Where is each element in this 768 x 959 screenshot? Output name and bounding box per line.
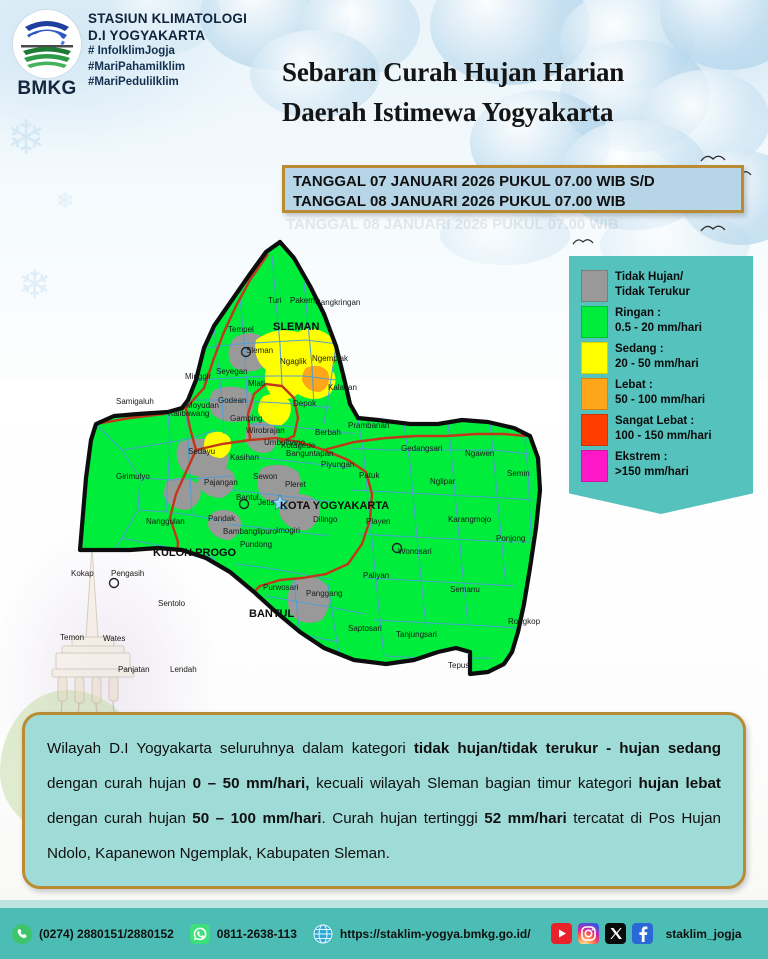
district-label: Godean	[218, 396, 246, 405]
district-label: Rongkop	[508, 617, 541, 626]
title-line-1: Sebaran Curah Hujan Harian	[282, 52, 752, 92]
legend-lebat-text: Lebat :50 - 100 mm/hari	[615, 378, 705, 408]
regency-label: KOTA YOGYAKARTA	[280, 500, 389, 512]
district-label: Kasihan	[230, 453, 259, 462]
summary-emphasis: 50 – 100 mm/hari	[192, 810, 321, 827]
title-line-2: Daerah Istimewa Yogyakarta	[282, 92, 752, 132]
district-label: Sentolo	[158, 599, 186, 608]
summary-segment: . Curah hujan tertinggi	[322, 810, 485, 827]
legend-ringan: Ringan :0.5 - 20 mm/hari	[581, 306, 743, 338]
summary-emphasis: 52 mm/hari	[484, 810, 566, 827]
district-label: Wonosari	[398, 547, 432, 556]
district-label: Tanjungsari	[396, 630, 437, 639]
page-title: Sebaran Curah Hujan Harian Daerah Istime…	[282, 52, 752, 132]
legend-sedang: Sedang :20 - 50 mm/hari	[581, 342, 743, 374]
district-label: Cangkringan	[315, 298, 360, 307]
legend-sedang-line-1: Sedang :	[615, 342, 699, 357]
regency-label: SLEMAN	[273, 321, 320, 333]
rainfall-map[interactable]: KULON PROGOSLEMANKOTA YOGYAKARTABANTULGU…	[18, 228, 578, 683]
website-contact[interactable]: https://staklim-yogya.bmkg.go.id/	[313, 924, 531, 944]
summary-emphasis: tidak hujan/tidak terukur - hujan sedang	[414, 740, 721, 757]
district-label: Kalasan	[328, 383, 357, 392]
district-label: Kalibawang	[168, 409, 209, 418]
legend-sedang-text: Sedang :20 - 50 mm/hari	[615, 342, 699, 372]
date-line-1: TANGGAL 07 JANUARI 2026 PUKUL 07.00 WIB …	[293, 172, 733, 192]
bmkg-logo-icon	[13, 10, 81, 78]
regency-label: BANTUL	[249, 608, 294, 620]
rainfall-legend: Tidak Hujan/Tidak TerukurRingan :0.5 - 2…	[569, 256, 753, 514]
whatsapp-contact: 0811-2638-113	[190, 924, 297, 944]
summary-segment: Wilayah D.I Yogyakarta seluruhnya dalam …	[47, 740, 414, 757]
org-line-1: STASIUN KLIMATOLOGI	[88, 10, 247, 27]
legend-ringan-text: Ringan :0.5 - 20 mm/hari	[615, 306, 702, 336]
district-label: Jetis	[258, 498, 274, 507]
facebook-icon[interactable]	[632, 923, 653, 944]
whatsapp-icon	[190, 924, 210, 944]
globe-icon	[313, 924, 333, 944]
district-label: Pakem	[290, 296, 315, 305]
footer-contact-bar: (0274) 2880151/2880152 0811-2638-113 htt…	[0, 908, 768, 959]
district-label: Pengasih	[111, 569, 144, 578]
district-label: Pleret	[285, 480, 307, 489]
district-label: Ngawen	[465, 449, 494, 458]
district-label: Panjatan	[118, 665, 150, 674]
legend-lebat-line-2: 50 - 100 mm/hari	[615, 393, 705, 408]
summary-text: Wilayah D.I Yogyakarta seluruhnya dalam …	[47, 731, 721, 871]
legend-sedang-swatch	[581, 342, 608, 374]
instagram-icon[interactable]	[578, 923, 599, 944]
social-handle: staklim_jogja	[666, 927, 742, 941]
district-label: Kokap	[71, 569, 94, 578]
whatsapp-number: 0811-2638-113	[217, 927, 297, 941]
website-url[interactable]: https://staklim-yogya.bmkg.go.id/	[340, 927, 531, 941]
district-label: Sewon	[253, 472, 277, 481]
x-twitter-icon[interactable]	[605, 923, 626, 944]
district-label: Gedangsari	[401, 444, 443, 453]
legend-sangat-lebat-line-1: Sangat Lebat :	[615, 414, 712, 429]
district-label: Pundong	[240, 540, 272, 549]
hashtag-2: #MariPahamiIklim	[88, 60, 247, 76]
bmkg-logo: BMKG	[8, 8, 86, 108]
district-label: Turi	[268, 296, 282, 305]
infographic-page: ❄ ❄ ❄	[0, 0, 768, 959]
district-label: Patuk	[359, 471, 380, 480]
bird-icon	[700, 152, 726, 164]
legend-sangat-lebat: Sangat Lebat :100 - 150 mm/hari	[581, 414, 743, 446]
district-label: Depok	[293, 399, 317, 408]
district-label: Nanggulan	[146, 517, 185, 526]
district-label: Berbah	[315, 428, 341, 437]
legend-sedang-line-2: 20 - 50 mm/hari	[615, 357, 699, 372]
district-label: Saptosari	[348, 624, 382, 633]
legend-tidak-hujan-line-1: Tidak Hujan/	[615, 270, 690, 285]
legend-ekstrem-text: Ekstrem :>150 mm/hari	[615, 450, 689, 480]
district-label: Samigaluh	[116, 397, 154, 406]
district-label: Wates	[103, 634, 125, 643]
legend-lebat: Lebat :50 - 100 mm/hari	[581, 378, 743, 410]
district-label: Imogiri	[276, 526, 300, 535]
snowflake-icon: ❄	[56, 188, 74, 214]
district-label: Prambanan	[348, 421, 389, 430]
district-label: Semin	[507, 469, 530, 478]
district-label: Seyegan	[216, 367, 248, 376]
legend-ringan-line-2: 0.5 - 20 mm/hari	[615, 321, 702, 336]
district-label: Bambanglipuro	[223, 527, 277, 536]
phone-contact: (0274) 2880151/2880152	[12, 924, 174, 944]
district-label: Moyudan	[186, 401, 219, 410]
legend-ringan-line-1: Ringan :	[615, 306, 702, 321]
hashtag-1: # InfoIklimJogja	[88, 44, 247, 60]
legend-ekstrem-line-2: >150 mm/hari	[615, 465, 689, 480]
district-label: Pandak	[208, 514, 236, 523]
district-label: Playen	[366, 517, 390, 526]
summary-segment: dengan curah hujan	[47, 775, 193, 792]
district-label: Ngemplak	[312, 354, 349, 363]
legend-ekstrem-line-1: Ekstrem :	[615, 450, 689, 465]
legend-tidak-hujan-line-2: Tidak Terukur	[615, 285, 690, 300]
district-label: Dilingo	[313, 515, 338, 524]
district-label: Ngaglik	[280, 357, 308, 366]
district-label: Tepus	[448, 661, 469, 670]
date-banner: TANGGAL 07 JANUARI 2026 PUKUL 07.00 WIB …	[282, 165, 744, 213]
district-label: Banguntapan	[286, 449, 334, 458]
district-label: Paliyan	[363, 571, 389, 580]
legend-lebat-swatch	[581, 378, 608, 410]
hashtag-3: #MariPeduliIklim	[88, 75, 247, 91]
district-label: Lendah	[170, 665, 197, 674]
district-label: Pajangan	[204, 478, 238, 487]
phone-number: (0274) 2880151/2880152	[39, 927, 174, 941]
legend-tidak-hujan-swatch	[581, 270, 608, 302]
social-media-icons[interactable]: staklim_jogja	[551, 923, 742, 944]
legend-ekstrem: Ekstrem :>150 mm/hari	[581, 450, 743, 482]
date-line-2: TANGGAL 08 JANUARI 2026 PUKUL 07.00 WIB	[293, 192, 733, 212]
map-svg[interactable]: KULON PROGOSLEMANKOTA YOGYAKARTABANTULGU…	[18, 228, 578, 683]
legend-sangat-lebat-line-2: 100 - 150 mm/hari	[615, 429, 712, 444]
district-label: Semanu	[450, 585, 480, 594]
bmkg-logo-text: BMKG	[8, 78, 86, 100]
district-label: Gamping	[230, 414, 262, 423]
district-label: Panggang	[306, 589, 342, 598]
legend-tidak-hujan-text: Tidak Hujan/Tidak Terukur	[615, 270, 690, 300]
district-label: Girimulyo	[116, 472, 150, 481]
district-label: Temon	[60, 633, 84, 642]
phone-icon	[12, 924, 32, 944]
legend-ekstrem-swatch	[581, 450, 608, 482]
district-label: Sedayu	[188, 447, 215, 456]
district-label: Wirobrajan	[246, 426, 285, 435]
legend-sangat-lebat-swatch	[581, 414, 608, 446]
org-line-2: D.I YOGYAKARTA	[88, 27, 247, 44]
district-label: Bantul	[236, 493, 259, 502]
summary-segment: kecuali wilayah Sleman bagian timur kate…	[309, 775, 638, 792]
district-label: Minggir	[185, 372, 212, 381]
district-label: Purwosari	[263, 583, 299, 592]
district-label: Nglipar	[430, 477, 456, 486]
youtube-icon[interactable]	[551, 923, 572, 944]
summary-emphasis: 0 – 50 mm/hari,	[193, 775, 310, 792]
district-label: Ponjong	[496, 534, 525, 543]
organization-block: STASIUN KLIMATOLOGI D.I YOGYAKARTA # Inf…	[88, 10, 247, 91]
regency-label: KULON PROGO	[153, 547, 237, 559]
summary-segment: dengan curah hujan	[47, 810, 192, 827]
summary-box: Wilayah D.I Yogyakarta seluruhnya dalam …	[22, 712, 746, 889]
district-label: Piyungan	[321, 460, 354, 469]
legend-tidak-hujan: Tidak Hujan/Tidak Terukur	[581, 270, 743, 302]
legend-ringan-swatch	[581, 306, 608, 338]
district-label: Sleman	[246, 346, 273, 355]
district-label: Karangmojo	[448, 515, 492, 524]
header: BMKG STASIUN KLIMATOLOGI D.I YOGYAKARTA …	[0, 0, 768, 120]
district-label: Mlati	[248, 379, 265, 388]
district-label: Tempel	[228, 325, 254, 334]
legend-sangat-lebat-text: Sangat Lebat :100 - 150 mm/hari	[615, 414, 712, 444]
legend-lebat-line-1: Lebat :	[615, 378, 705, 393]
summary-emphasis: hujan lebat	[638, 775, 721, 792]
